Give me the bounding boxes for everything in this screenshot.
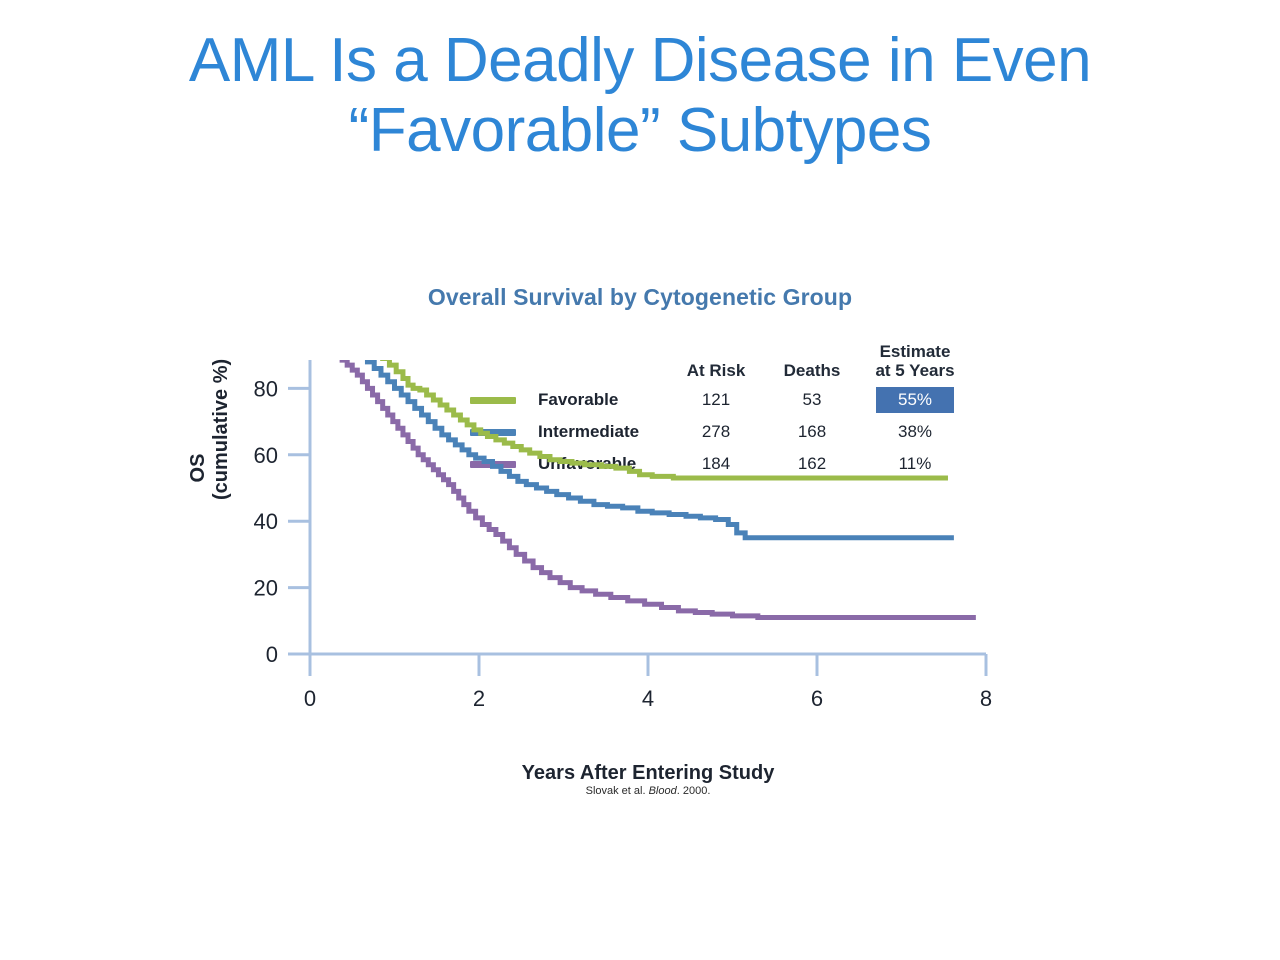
x-tick-label: 0	[304, 686, 316, 711]
x-axis-title: Years After Entering Study	[310, 762, 986, 785]
legend-header-estimate-line-1: Estimate	[880, 342, 951, 361]
plot-area: 02040608010002468	[0, 360, 1280, 740]
x-tick-label: 2	[473, 686, 485, 711]
citation: Slovak et al. Blood. 2000.	[310, 785, 986, 797]
x-tick-label: 4	[642, 686, 654, 711]
y-tick-label: 0	[266, 642, 278, 667]
survival-curves-svg: 02040608010002468	[0, 360, 1280, 740]
y-tick-label: 60	[254, 443, 278, 468]
x-tick-label: 6	[811, 686, 823, 711]
y-axis-title-line-2: (cumulative %)	[210, 359, 232, 500]
citation-year: . 2000.	[677, 785, 711, 797]
survival-figure: Overall Survival by Cytogenetic Group At…	[0, 270, 1280, 830]
citation-author: Slovak et al.	[586, 785, 646, 797]
y-tick-label: 20	[254, 576, 278, 601]
y-axis-title-line-1: OS	[187, 454, 209, 483]
y-axis-title: OS (cumulative %)	[187, 436, 233, 500]
slide-title: AML Is a Deadly Disease in Even “Favorab…	[0, 26, 1280, 166]
survival-curve-favorable	[310, 360, 948, 478]
y-tick-label: 80	[254, 376, 278, 401]
slide-title-line-1: AML Is a Deadly Disease in Even	[0, 26, 1280, 96]
y-tick-label: 40	[254, 509, 278, 534]
chart-title: Overall Survival by Cytogenetic Group	[0, 284, 1280, 311]
x-tick-label: 8	[980, 686, 992, 711]
slide-title-line-2: “Favorable” Subtypes	[0, 96, 1280, 166]
citation-journal: Blood	[649, 785, 677, 797]
